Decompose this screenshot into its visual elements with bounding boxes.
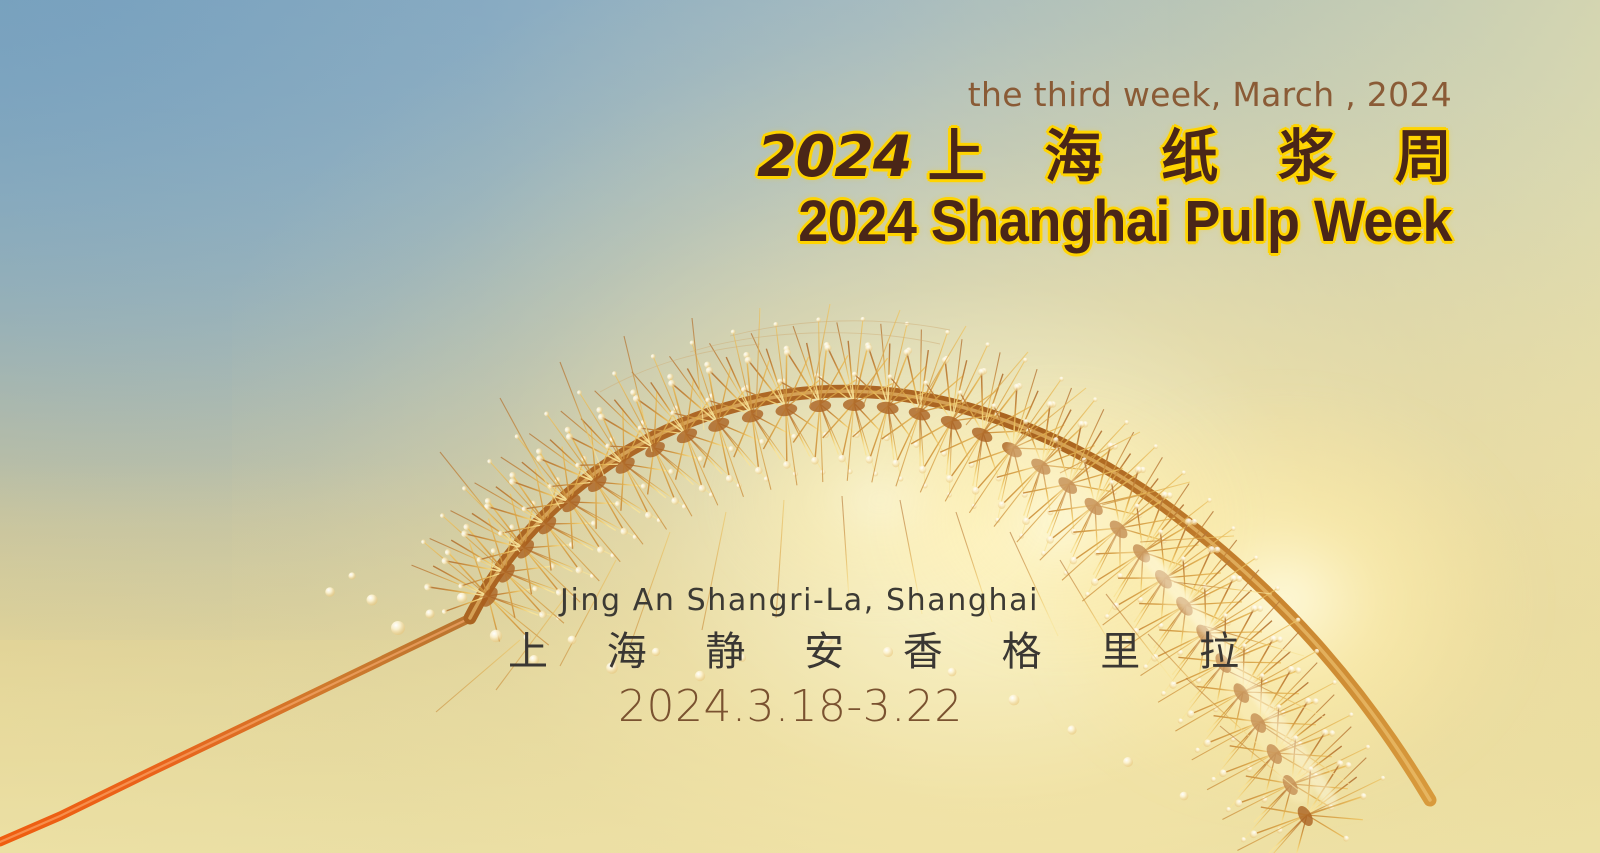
venue-block: Jing An Shangri-La, Shanghai 上 海 静 安 香 格… xyxy=(508,586,1262,729)
event-title-english: 2024 Shanghai Pulp Week xyxy=(798,192,1452,252)
poster-banner: the third week, March , 2024 2024上 海 纸 浆… xyxy=(0,0,1600,853)
venue-name-chinese: 上 海 静 安 香 格 里 拉 xyxy=(508,632,1262,672)
event-title-chinese-name: 上 海 纸 浆 周 xyxy=(928,124,1472,190)
event-title-chinese: 2024上 海 纸 浆 周 xyxy=(749,129,1452,186)
title-block: the third week, March , 2024 2024上 海 纸 浆… xyxy=(749,78,1452,252)
venue-name-english: Jing An Shangri-La, Shanghai xyxy=(560,586,1262,616)
event-date-kicker: the third week, March , 2024 xyxy=(749,78,1452,111)
event-date-range: 2024.3.18-3.22 xyxy=(618,685,1262,729)
event-title-chinese-year: 2024 xyxy=(757,124,912,190)
